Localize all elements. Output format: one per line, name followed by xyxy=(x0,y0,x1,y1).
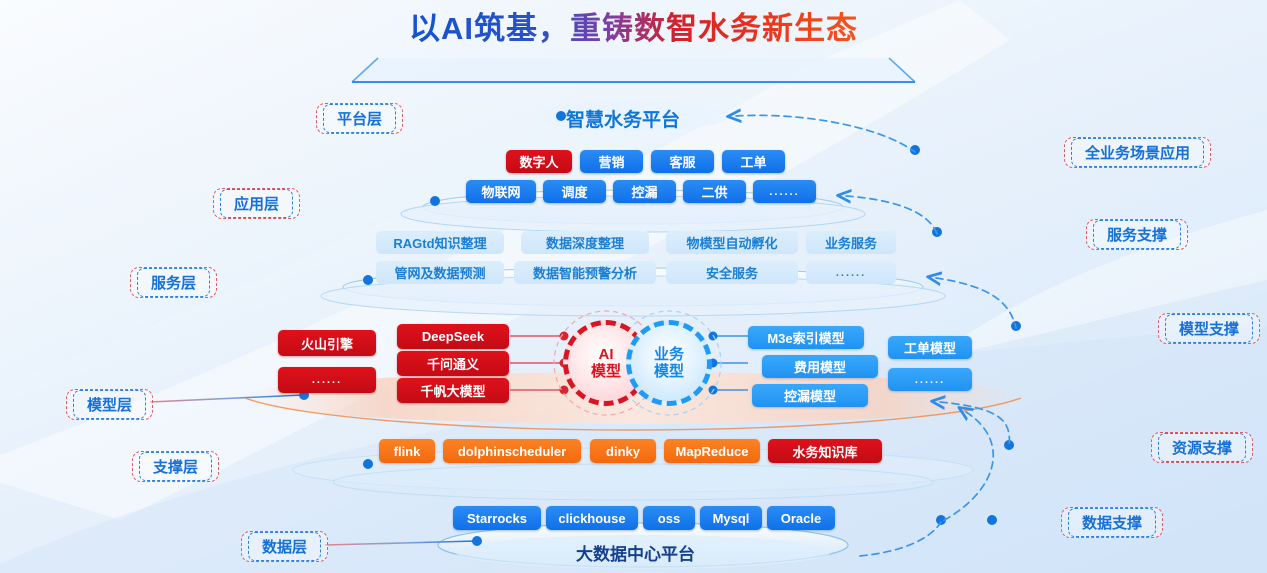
app-chip-dispatch[interactable]: 调度 xyxy=(543,180,606,203)
support-tag-all-business-scenarios-label: 全业务场景应用 xyxy=(1071,138,1204,167)
layer-tag-model-label: 模型层 xyxy=(73,390,146,419)
core-biz-label: 业务模型 xyxy=(654,346,684,381)
layer-tag-support[interactable]: 支撑层 xyxy=(132,451,219,482)
app-chip-leak-control[interactable]: 控漏 xyxy=(613,180,676,203)
service-chip-auto-thing-model[interactable]: 物模型自动孵化 xyxy=(666,231,798,254)
layer-tag-platform[interactable]: 平台层 xyxy=(316,103,403,134)
layer-tag-application-label: 应用层 xyxy=(220,189,293,218)
support-tag-service[interactable]: 服务支撑 xyxy=(1086,219,1188,250)
app-chip-customer-service[interactable]: 客服 xyxy=(651,150,714,173)
layer-tag-support-label: 支撑层 xyxy=(139,452,212,481)
model-chip-work-order[interactable]: 工单模型 xyxy=(888,336,972,359)
support-chip-dinky[interactable]: dinky xyxy=(590,439,656,463)
service-chip-smart-early-warning[interactable]: 数据智能预警分析 xyxy=(514,261,656,284)
model-chip-deepseek[interactable]: DeepSeek xyxy=(397,324,509,349)
data-chip-mysql[interactable]: Mysql xyxy=(700,506,762,530)
app-chip-work-order[interactable]: 工单 xyxy=(722,150,785,173)
model-chip-leak-control[interactable]: 控漏模型 xyxy=(752,384,868,407)
layer-tag-data-label: 数据层 xyxy=(248,532,321,561)
app-chip-more[interactable]: ...... xyxy=(753,180,816,203)
support-chip-flink[interactable]: flink xyxy=(379,439,435,463)
layer-tag-model[interactable]: 模型层 xyxy=(66,389,153,420)
layer-tag-platform-label: 平台层 xyxy=(323,104,396,133)
service-chip-more[interactable]: ...... xyxy=(806,261,896,284)
model-chip-volcano-engine[interactable]: 火山引擎 xyxy=(278,330,376,356)
model-chip-qianfan[interactable]: 千帆大模型 xyxy=(397,378,509,403)
core-circle-business-model[interactable]: 业务模型 xyxy=(626,320,712,406)
app-chip-digital-human[interactable]: 数字人 xyxy=(506,150,572,173)
layer-tag-data[interactable]: 数据层 xyxy=(241,531,328,562)
support-tag-all-business-scenarios[interactable]: 全业务场景应用 xyxy=(1064,137,1211,168)
data-chip-oracle[interactable]: Oracle xyxy=(767,506,835,530)
layer-tag-service-label: 服务层 xyxy=(137,268,210,297)
service-chip-deep-data-organize[interactable]: 数据深度整理 xyxy=(521,231,649,254)
support-tag-data-label: 数据支撑 xyxy=(1068,508,1156,537)
layer-tag-service[interactable]: 服务层 xyxy=(130,267,217,298)
support-tag-data[interactable]: 数据支撑 xyxy=(1061,507,1163,538)
model-chip-fee[interactable]: 费用模型 xyxy=(762,355,878,378)
service-chip-rag-knowledge[interactable]: RAGtd知识整理 xyxy=(376,231,504,254)
app-chip-secondary-supply[interactable]: 二供 xyxy=(683,180,746,203)
bigdata-platform-title: 大数据中心平台 xyxy=(576,540,695,565)
service-chip-business-service[interactable]: 业务服务 xyxy=(806,231,896,254)
platform-title: 智慧水务平台 xyxy=(566,105,680,132)
diagram-canvas: 以AI筑基，重铸数智水务新生态 xyxy=(0,0,1267,573)
support-chip-mapreduce[interactable]: MapReduce xyxy=(664,439,760,463)
model-chip-m3e-index[interactable]: M3e索引模型 xyxy=(748,326,864,349)
service-chip-pipe-data-forecast[interactable]: 管网及数据预测 xyxy=(376,261,504,284)
support-tag-resource-label: 资源支撑 xyxy=(1158,433,1246,462)
core-ai-label: AI模型 xyxy=(591,346,621,381)
app-chip-iot[interactable]: 物联网 xyxy=(466,180,536,203)
support-tag-model-label: 模型支撑 xyxy=(1165,314,1253,343)
service-chip-security-service[interactable]: 安全服务 xyxy=(666,261,798,284)
app-chip-marketing[interactable]: 营销 xyxy=(580,150,643,173)
page-title: 以AI筑基，重铸数智水务新生态 xyxy=(409,12,858,46)
support-tag-service-label: 服务支撑 xyxy=(1093,220,1181,249)
model-chip-qwen-tongyi[interactable]: 千问通义 xyxy=(397,351,509,376)
support-chip-water-knowledge-base[interactable]: 水务知识库 xyxy=(768,439,882,463)
support-chip-dolphinscheduler[interactable]: dolphinscheduler xyxy=(443,439,581,463)
model-chip-far-left-more[interactable]: ...... xyxy=(278,367,376,393)
data-chip-oss[interactable]: oss xyxy=(643,506,695,530)
support-tag-model[interactable]: 模型支撑 xyxy=(1158,313,1260,344)
data-chip-starrocks[interactable]: Starrocks xyxy=(453,506,541,530)
layer-tag-application[interactable]: 应用层 xyxy=(213,188,300,219)
model-chip-far-right-more[interactable]: ...... xyxy=(888,368,972,391)
support-tag-resource[interactable]: 资源支撑 xyxy=(1151,432,1253,463)
data-chip-clickhouse[interactable]: clickhouse xyxy=(546,506,638,530)
